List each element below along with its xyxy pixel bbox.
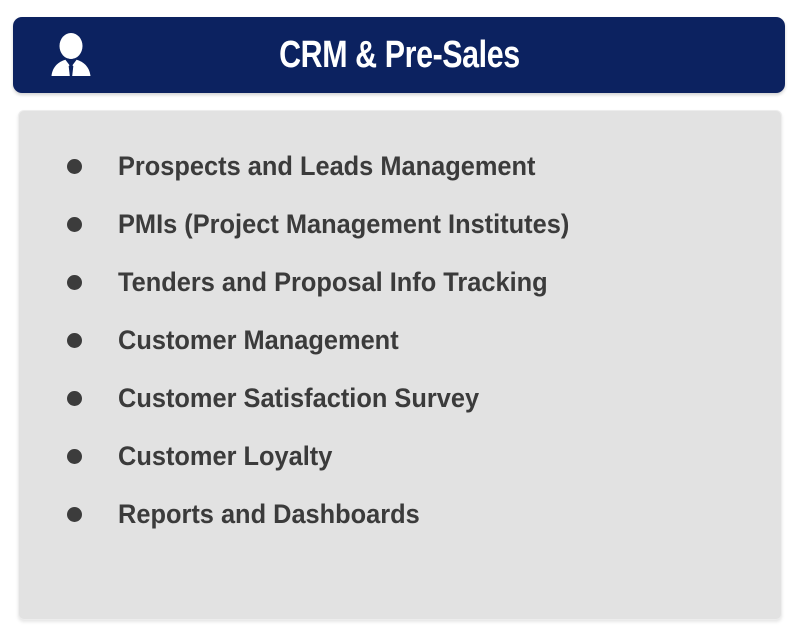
crm-pre-sales-slide: CRM & Pre-Sales Prospects and Leads Mana… <box>0 0 800 640</box>
list-item[interactable]: Prospects and Leads Management <box>19 137 781 195</box>
feature-panel: Prospects and Leads Management PMIs (Pro… <box>18 110 782 620</box>
bullet-icon <box>67 391 82 406</box>
bullet-icon <box>67 159 82 174</box>
list-item-label: Reports and Dashboards <box>118 499 420 529</box>
list-item[interactable]: Customer Satisfaction Survey <box>19 369 781 427</box>
list-item-label: Tenders and Proposal Info Tracking <box>118 267 548 297</box>
list-item[interactable]: Reports and Dashboards <box>19 485 781 543</box>
list-item[interactable]: Customer Management <box>19 311 781 369</box>
page-title: CRM & Pre-Sales <box>13 35 785 75</box>
list-item-label: Customer Management <box>118 325 399 355</box>
bullet-icon <box>67 333 82 348</box>
page-title-text: CRM & Pre-Sales <box>279 35 520 75</box>
bullet-icon <box>67 449 82 464</box>
list-item-label: Customer Loyalty <box>118 441 332 471</box>
list-item[interactable]: Customer Loyalty <box>19 427 781 485</box>
bullet-icon <box>67 507 82 522</box>
feature-list: Prospects and Leads Management PMIs (Pro… <box>19 137 781 543</box>
list-item[interactable]: PMIs (Project Management Institutes) <box>19 195 781 253</box>
bullet-icon <box>67 275 82 290</box>
list-item[interactable]: Tenders and Proposal Info Tracking <box>19 253 781 311</box>
list-item-label: Customer Satisfaction Survey <box>118 383 479 413</box>
header-banner: CRM & Pre-Sales <box>13 17 785 93</box>
list-item-label: Prospects and Leads Management <box>118 151 535 181</box>
bullet-icon <box>67 217 82 232</box>
list-item-label: PMIs (Project Management Institutes) <box>118 209 569 239</box>
